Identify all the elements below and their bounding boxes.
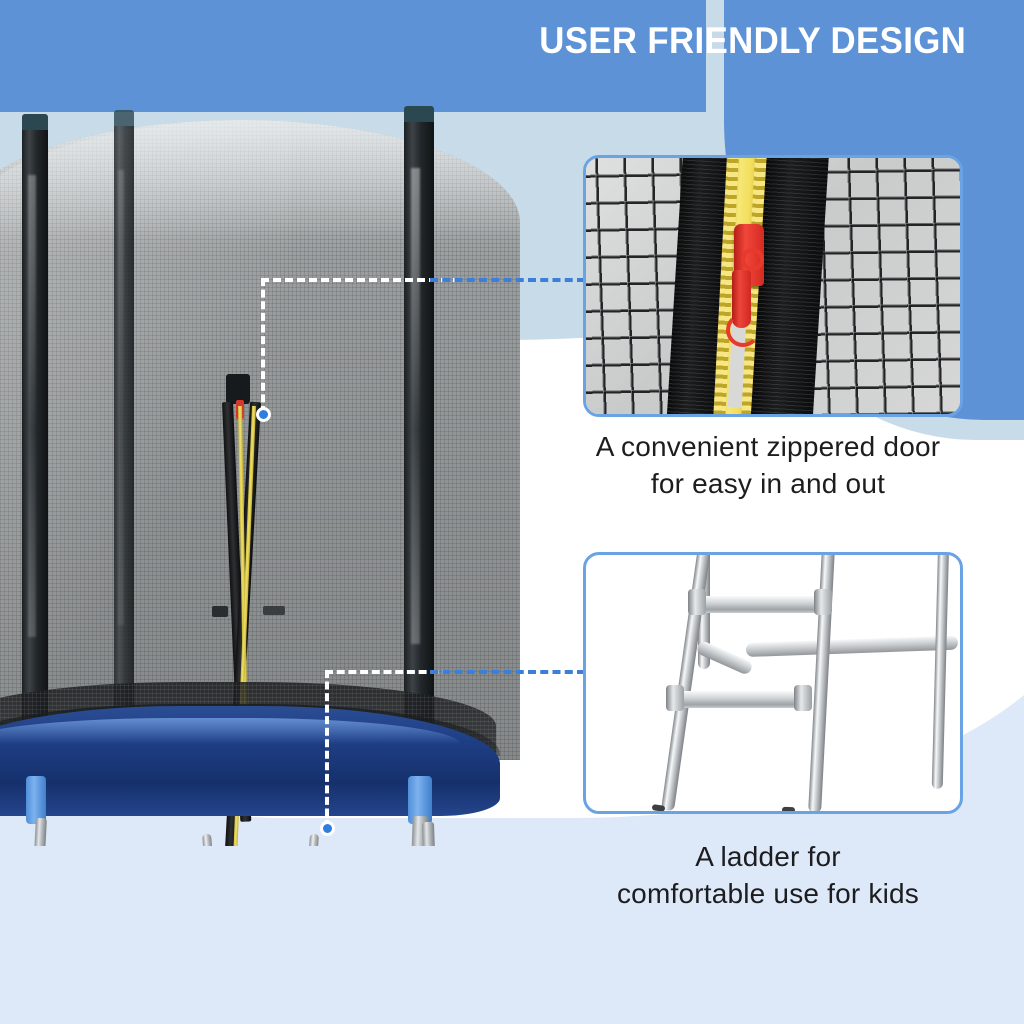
ladder-connector-horizontal: [430, 670, 585, 674]
ladder-rail: [296, 834, 319, 846]
pole-glint: [118, 170, 124, 625]
frame-horizontal-bar: [746, 636, 958, 657]
product-photo: [0, 106, 560, 846]
door-clip: [263, 606, 285, 615]
ladder-rail-cap: [782, 807, 795, 814]
door-clip: [212, 606, 228, 617]
ladder-connector-anchor-dot: [320, 821, 335, 836]
zipper-connector-anchor-dot: [256, 407, 271, 422]
zipper-connector-horizontal: [430, 278, 585, 282]
net-top-highlight: [0, 120, 520, 240]
page-title: USER FRIENDLY DESIGN: [539, 20, 966, 62]
ladder-rung-upper: [694, 596, 822, 613]
ladder-rung-lower: [672, 691, 802, 708]
ladder-rung-joint: [688, 589, 706, 615]
pole-foam-sleeve: [26, 776, 46, 824]
ladder-rung-joint: [814, 589, 832, 615]
ladder-rung-joint: [666, 685, 684, 711]
pole-cap: [404, 106, 434, 122]
zipper-pull-loop: [726, 313, 760, 347]
ladder-rail-cap: [652, 804, 666, 812]
pole-cap: [114, 110, 134, 126]
enclosure-pole: [22, 122, 48, 782]
pole-cap: [22, 114, 48, 130]
enclosure-pole: [114, 118, 134, 768]
zipper-connector-vertical-outline: [261, 278, 265, 414]
ladder-caption-line-1: A ladder for: [513, 838, 1023, 875]
ladder-callout-card[interactable]: [583, 552, 963, 814]
zipper-slider-ring: [741, 248, 764, 271]
zippered-door-callout-card[interactable]: [583, 155, 963, 417]
ladder-rung-joint: [794, 685, 812, 711]
pole-glint: [28, 175, 36, 637]
trampoline-leg-brace: [422, 822, 438, 846]
zipper-caption-line-2: for easy in and out: [513, 465, 1023, 502]
marketing-image: USER FRIENDLY DESIGN: [0, 0, 1024, 1024]
zipper-caption-line-1: A convenient zippered door: [513, 428, 1023, 465]
ladder-connector-vertical-outline: [325, 670, 329, 828]
pole-glint: [411, 168, 420, 644]
zipper-caption: A convenient zippered door for easy in a…: [513, 428, 1023, 502]
ladder-caption-line-2: comfortable use for kids: [513, 875, 1023, 912]
ladder-caption: A ladder for comfortable use for kids: [513, 838, 1023, 912]
frame-right-leg: [932, 552, 949, 789]
